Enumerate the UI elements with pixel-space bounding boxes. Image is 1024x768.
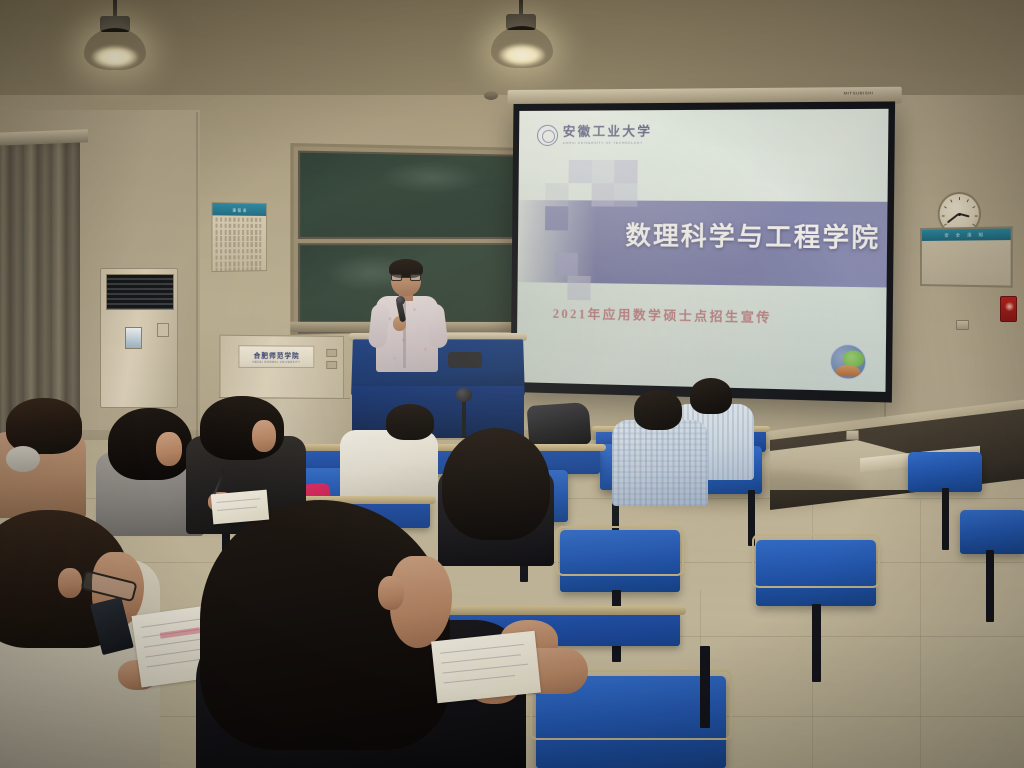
microphone-stand[interactable] <box>462 396 466 438</box>
presentation-slide: 安徽工业大学 ANHUI UNIVERSITY OF TECHNOLOGY 数理… <box>517 109 889 392</box>
slide-mosaic-tile <box>614 183 637 207</box>
microphone-head-icon[interactable] <box>456 388 472 402</box>
slide-mosaic-tile <box>591 183 614 207</box>
hair-tie <box>6 446 40 472</box>
notice-board-left-header: 课 程 表 <box>212 203 266 216</box>
face <box>156 432 182 466</box>
notice-board-right[interactable]: 安 全 须 知 <box>920 226 1013 287</box>
torso <box>612 420 708 506</box>
podium-cabinet: 合肥师范学院 HEFEI NORMAL UNIVERSITY <box>219 335 344 404</box>
desk-edge <box>414 606 686 615</box>
glasses-icon <box>391 274 421 281</box>
hair <box>386 404 434 440</box>
podium-control-button[interactable] <box>326 349 337 357</box>
notebook-page[interactable] <box>431 631 541 704</box>
slide-mosaic-tile <box>568 160 591 184</box>
black-backpack[interactable] <box>527 402 592 448</box>
smoke-detector <box>484 91 498 100</box>
university-logo: 安徽工业大学 ANHUI UNIVERSITY OF TECHNOLOGY <box>537 124 653 146</box>
screen-frame: 安徽工业大学 ANHUI UNIVERSITY OF TECHNOLOGY 数理… <box>511 101 896 402</box>
lamp-glow <box>499 44 545 66</box>
seat-leg <box>942 488 949 550</box>
lecture-hall-photo: 课 程 表 安 全 须 知 MITSUBISHI <box>0 0 1024 768</box>
ac-label <box>157 323 169 337</box>
lectern-equipment[interactable] <box>448 352 482 368</box>
slide-mosaic-tile <box>591 160 614 184</box>
microphone-capsule-icon <box>396 296 405 305</box>
torso <box>340 430 438 502</box>
air-conditioner[interactable] <box>100 268 178 408</box>
seat-rim <box>752 534 880 588</box>
hair <box>690 378 732 414</box>
university-name-cn: 安徽工业大学 <box>563 125 653 138</box>
college-emblem-icon <box>830 344 867 380</box>
seat-leg <box>700 646 710 728</box>
slide-mosaic-tile <box>614 160 637 184</box>
seat-rim <box>556 526 684 576</box>
slide-mosaic-tile <box>545 183 568 207</box>
wall-seam <box>196 112 198 442</box>
notice-board-left[interactable]: 课 程 表 <box>211 202 267 272</box>
hair <box>634 390 682 430</box>
projection-screen[interactable]: MITSUBISHI 安徽工业大学 <box>511 101 896 402</box>
ac-display[interactable] <box>125 327 142 349</box>
university-seal-icon <box>537 124 558 145</box>
slide-title: 数理科学与工程学院 <box>625 216 880 255</box>
notes-paper[interactable] <box>211 490 269 525</box>
projector-brand-label: MITSUBISHI <box>844 90 874 95</box>
hair <box>442 428 550 540</box>
podium-plaque: 合肥师范学院 HEFEI NORMAL UNIVERSITY <box>238 345 314 368</box>
podium-control-button[interactable] <box>326 361 337 369</box>
window-curtain[interactable] <box>0 140 80 440</box>
emergency-sign <box>1000 296 1017 322</box>
podium-plaque-en: HEFEI NORMAL UNIVERSITY <box>253 361 301 364</box>
seat-leg <box>986 550 994 622</box>
seat-leg <box>812 604 821 682</box>
podium-plaque-cn: 合肥师范学院 <box>254 349 300 359</box>
wall-socket[interactable] <box>956 320 969 330</box>
ear <box>58 568 82 598</box>
slide-mosaic-tile <box>555 252 578 276</box>
slide-subtitle: 2021年应用数学硕士点招生宣传 <box>553 303 772 326</box>
lamp-glow <box>92 46 138 68</box>
university-name-en: ANHUI UNIVERSITY OF TECHNOLOGY <box>563 140 652 144</box>
ac-vent <box>106 274 174 310</box>
ear <box>378 576 404 610</box>
slide-mosaic-tile <box>545 207 568 231</box>
seat-back[interactable] <box>960 510 1024 554</box>
slide-mosaic-tile <box>567 276 590 300</box>
notice-board-right-header: 安 全 须 知 <box>922 228 1011 241</box>
wall-socket[interactable] <box>846 430 859 440</box>
clock-center <box>958 212 961 215</box>
face <box>252 420 276 452</box>
seat-back[interactable] <box>908 452 982 492</box>
